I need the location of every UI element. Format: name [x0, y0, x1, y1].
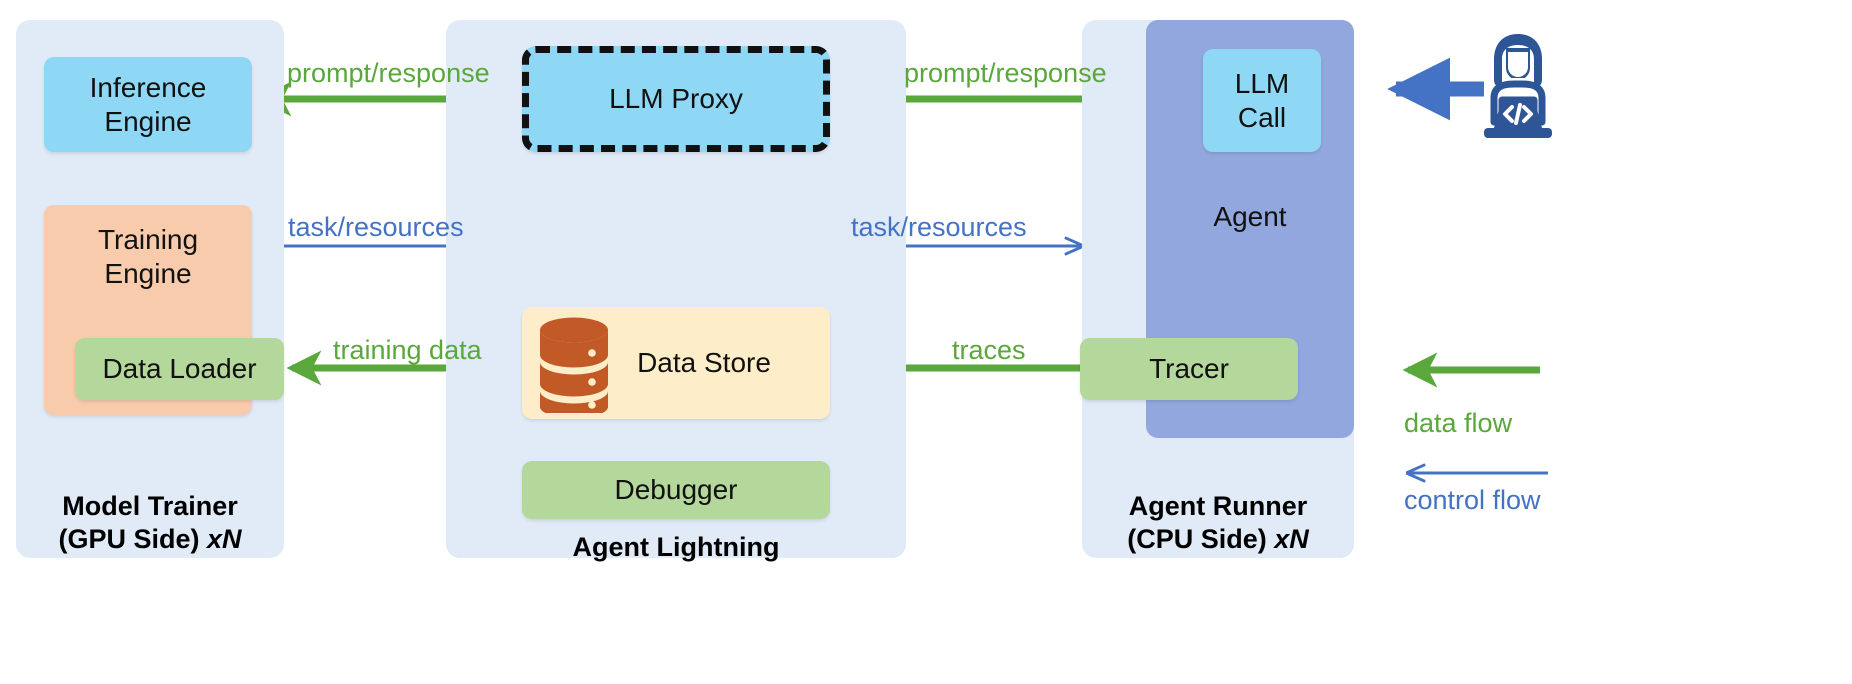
- panel-agent-runner-label-line1: Agent Runner: [1082, 490, 1354, 523]
- legend-label-data-flow: data flow: [1404, 408, 1512, 438]
- node-debugger[interactable]: Debugger: [522, 461, 830, 519]
- developer-person-icon: [1458, 28, 1578, 148]
- node-llm-call[interactable]: LLM Call: [1203, 49, 1321, 152]
- edge-label-task-resources-right: task/resources: [851, 212, 1027, 242]
- node-llm-call-label-line2: Call: [1238, 101, 1286, 135]
- node-inference-engine-label-line2: Engine: [104, 105, 191, 139]
- node-tracer[interactable]: Tracer: [1080, 338, 1298, 400]
- edge-label-training-data: training data: [333, 335, 482, 365]
- node-inference-engine-label-line1: Inference: [90, 71, 207, 105]
- edge-label-prompt-response-right: prompt/response: [904, 58, 1107, 88]
- panel-model-trainer-label-line1: Model Trainer: [16, 490, 284, 523]
- node-agent-label: Agent: [1213, 200, 1286, 234]
- panel-agent-runner-label-line2: (CPU Side) xN: [1082, 523, 1354, 556]
- node-training-engine-label-line1: Training: [98, 223, 198, 257]
- node-llm-call-label-line1: LLM: [1235, 67, 1289, 101]
- edge-label-task-resources-left: task/resources: [288, 212, 464, 242]
- panel-agent-lightning-label: Agent Lightning: [446, 531, 906, 564]
- legend-label-control-flow: control flow: [1404, 485, 1541, 515]
- panel-model-trainer-multiplier: xN: [207, 524, 242, 554]
- node-debugger-label: Debugger: [615, 473, 738, 507]
- panel-agent-lightning-label-line1: Agent Lightning: [446, 531, 906, 564]
- database-icon: [536, 315, 612, 413]
- panel-model-trainer-label: Model Trainer (GPU Side) xN: [16, 490, 284, 556]
- node-inference-engine[interactable]: Inference Engine: [44, 57, 252, 152]
- panel-agent-runner-multiplier: xN: [1274, 524, 1309, 554]
- edge-label-traces: traces: [952, 335, 1026, 365]
- diagram-canvas: Model Trainer (GPU Side) xN Inference En…: [0, 0, 1852, 684]
- node-tracer-label: Tracer: [1149, 352, 1229, 386]
- panel-agent-runner-label: Agent Runner (CPU Side) xN: [1082, 490, 1354, 556]
- node-data-loader-label: Data Loader: [102, 352, 256, 386]
- edge-label-prompt-response-left: prompt/response: [287, 58, 490, 88]
- node-training-engine-label-line2: Engine: [104, 257, 191, 291]
- node-data-loader[interactable]: Data Loader: [75, 338, 284, 400]
- node-llm-proxy-label: LLM Proxy: [609, 82, 743, 116]
- node-llm-proxy[interactable]: LLM Proxy: [522, 46, 830, 152]
- panel-model-trainer-label-line2: (GPU Side) xN: [16, 523, 284, 556]
